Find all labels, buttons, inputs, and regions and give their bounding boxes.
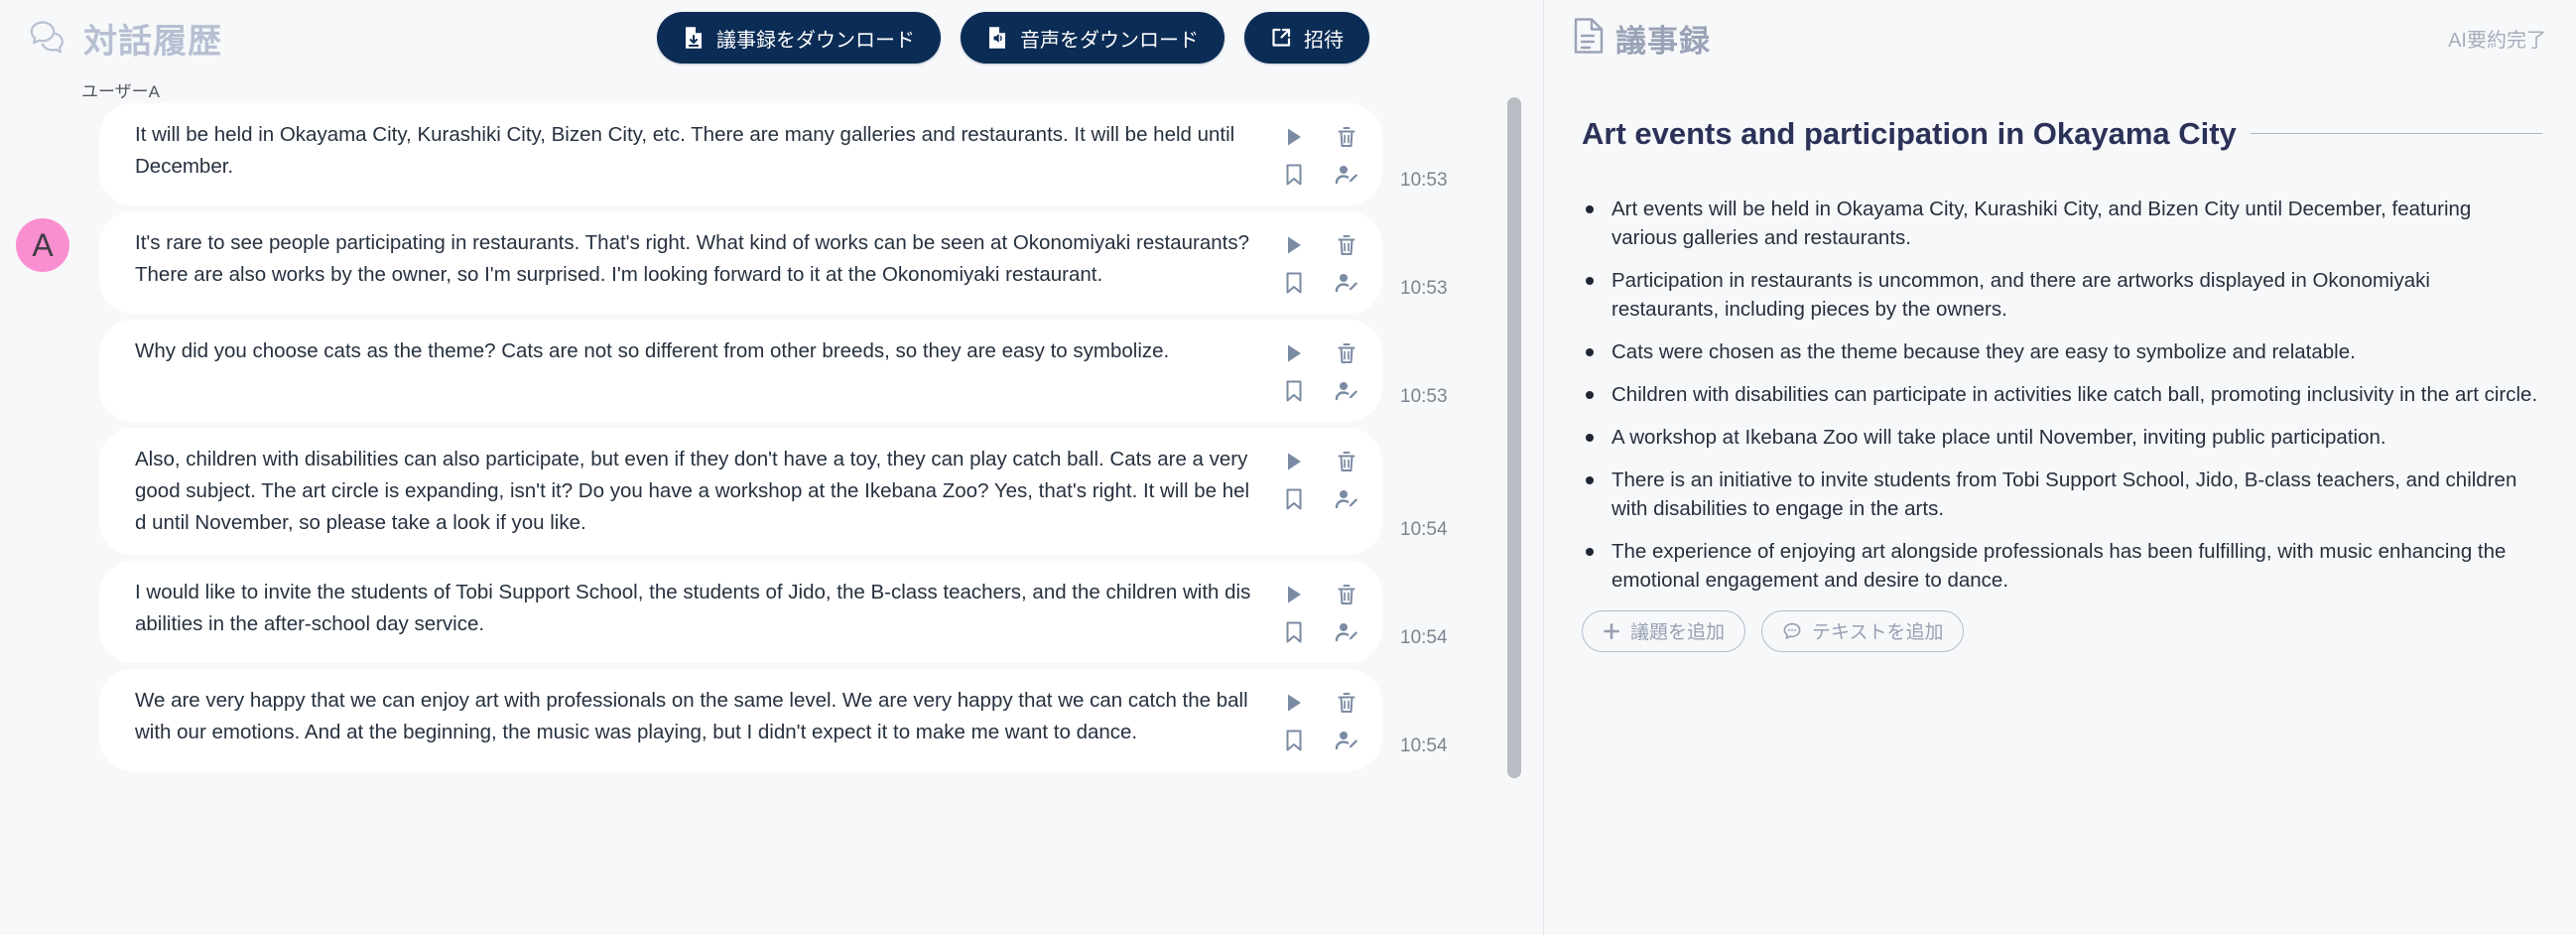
message-bubble: We are very happy that we can enjoy art … [99,669,1382,771]
summary-item: A workshop at Ikebana Zoo will take plac… [1582,423,2542,452]
minutes-title-label: 議事録 [1615,16,1711,61]
message-bubble: I would like to invite the students of T… [99,561,1382,663]
message-bubble: It will be held in Okayama City, Kurashi… [99,103,1382,205]
message-text: Why did you choose cats as the theme? Ca… [135,335,1267,367]
summary-item: Children with disabilities can participa… [1582,380,2542,409]
summary-item: Participation in restaurants is uncommon… [1582,266,2542,324]
user-edit-icon[interactable] [1330,617,1363,647]
message-row: I would like to invite the students of T… [0,561,1478,663]
add-topic-label: 議題を追加 [1630,617,1725,644]
minutes-panel: 議事録 AI要約完了 Art events and participation … [1544,0,2576,935]
message-actions [1267,577,1382,647]
user-edit-icon[interactable] [1330,726,1363,755]
bookmark-icon[interactable] [1277,617,1311,647]
file-download-icon [683,26,705,50]
trash-icon[interactable] [1330,580,1363,609]
trash-icon[interactable] [1330,122,1363,152]
message-text: Also, children with disabilities can als… [135,444,1267,539]
scrollbar-thumb[interactable] [1507,97,1521,778]
download-minutes-button[interactable]: 議事録をダウンロード [657,12,941,64]
trash-icon[interactable] [1330,447,1363,476]
bookmark-icon[interactable] [1277,484,1311,514]
add-text-label: テキストを追加 [1812,617,1943,644]
message-timestamp: 10:54 [1382,561,1478,663]
minutes-brand: 議事録 [1572,16,1711,61]
minutes-body: Art events and participation in Okayama … [1544,75,2576,935]
external-link-icon [1270,27,1292,49]
message-actions [1267,335,1382,406]
play-icon[interactable] [1277,122,1311,152]
audio-file-download-icon [986,26,1008,50]
app-root: 対話履歴 議事録をダウンロード [0,0,2576,935]
message-row: Also, children with disabilities can als… [0,428,1478,555]
header-actions: 議事録をダウンロード 音声をダウンロード [657,12,1369,64]
summary-item: The experience of enjoying art alongside… [1582,537,2542,595]
summary-item: Art events will be held in Okayama City,… [1582,195,2542,252]
minutes-heading: Art events and participation in Okayama … [1582,116,2237,152]
message-bubble: Why did you choose cats as the theme? Ca… [99,320,1382,422]
play-icon[interactable] [1277,447,1311,476]
message-text: It's rare to see people participating in… [135,227,1267,291]
user-edit-icon[interactable] [1330,160,1363,190]
message-actions [1267,119,1382,190]
message-timestamp: 10:54 [1382,428,1478,555]
user-edit-icon[interactable] [1330,484,1363,514]
play-icon[interactable] [1277,338,1311,368]
bookmark-icon[interactable] [1277,268,1311,298]
comment-icon [1782,621,1802,641]
page-title: 対話履歴 [83,14,222,63]
conversation-history-panel: 対話履歴 議事録をダウンロード [0,0,1544,935]
messages-scrollbar[interactable] [1507,75,1521,935]
download-audio-label: 音声をダウンロード [1020,24,1199,53]
message-row: It will be held in Okayama City, Kurashi… [0,103,1478,205]
play-icon[interactable] [1277,230,1311,260]
summary-item: Cats were chosen as the theme because th… [1582,337,2542,366]
user-edit-icon[interactable] [1330,268,1363,298]
messages-scroll-area[interactable]: A ユーザーA It will be held in Okayama City,… [0,75,1543,935]
message-row: We are very happy that we can enjoy art … [0,669,1478,771]
message-row: Why did you choose cats as the theme? Ca… [0,320,1478,422]
bookmark-icon[interactable] [1277,726,1311,755]
speaker-line: ユーザーA [0,75,1478,103]
left-header: 対話履歴 議事録をダウンロード [0,0,1543,75]
minutes-header: 議事録 AI要約完了 [1544,0,2576,75]
trash-icon[interactable] [1330,230,1363,260]
message-list: ユーザーA It will be held in Okayama City, K… [0,75,1543,935]
summary-item: There is an initiative to invite student… [1582,466,2542,523]
message-text: It will be held in Okayama City, Kurashi… [135,119,1267,183]
message-bubble: It's rare to see people participating in… [99,211,1382,314]
avatar: A [16,218,69,272]
title-divider [2251,133,2542,134]
minutes-heading-row: Art events and participation in Okayama … [1582,95,2542,173]
summary-list: Art events will be held in Okayama City,… [1582,195,2542,595]
play-icon[interactable] [1277,688,1311,718]
plus-icon [1603,622,1620,640]
message-timestamp: 10:53 [1382,211,1478,314]
invite-label: 招待 [1304,24,1344,53]
chat-bubbles-icon [26,16,69,60]
message-timestamp: 10:54 [1382,669,1478,771]
message-actions [1267,227,1382,298]
speaker-name: ユーザーA [81,77,160,102]
play-icon[interactable] [1277,580,1311,609]
message-timestamp: 10:53 [1382,103,1478,205]
add-actions: 議題を追加 テキストを追加 [1582,610,2542,652]
conversation-history-brand: 対話履歴 [26,14,222,63]
bookmark-icon[interactable] [1277,160,1311,190]
document-icon [1572,17,1606,60]
message-text: I would like to invite the students of T… [135,577,1267,640]
trash-icon[interactable] [1330,688,1363,718]
message-row: It's rare to see people participating in… [0,211,1478,314]
message-text: We are very happy that we can enjoy art … [135,685,1267,748]
message-actions [1267,444,1382,514]
add-topic-button[interactable]: 議題を追加 [1582,610,1745,652]
message-bubble: Also, children with disabilities can als… [99,428,1382,555]
user-edit-icon[interactable] [1330,376,1363,406]
trash-icon[interactable] [1330,338,1363,368]
message-timestamp: 10:53 [1382,320,1478,422]
download-audio-button[interactable]: 音声をダウンロード [961,12,1224,64]
add-text-button[interactable]: テキストを追加 [1761,610,1964,652]
bookmark-icon[interactable] [1277,376,1311,406]
download-minutes-label: 議事録をダウンロード [716,24,915,53]
ai-summary-status: AI要約完了 [2448,24,2546,53]
message-actions [1267,685,1382,755]
invite-button[interactable]: 招待 [1244,12,1369,64]
